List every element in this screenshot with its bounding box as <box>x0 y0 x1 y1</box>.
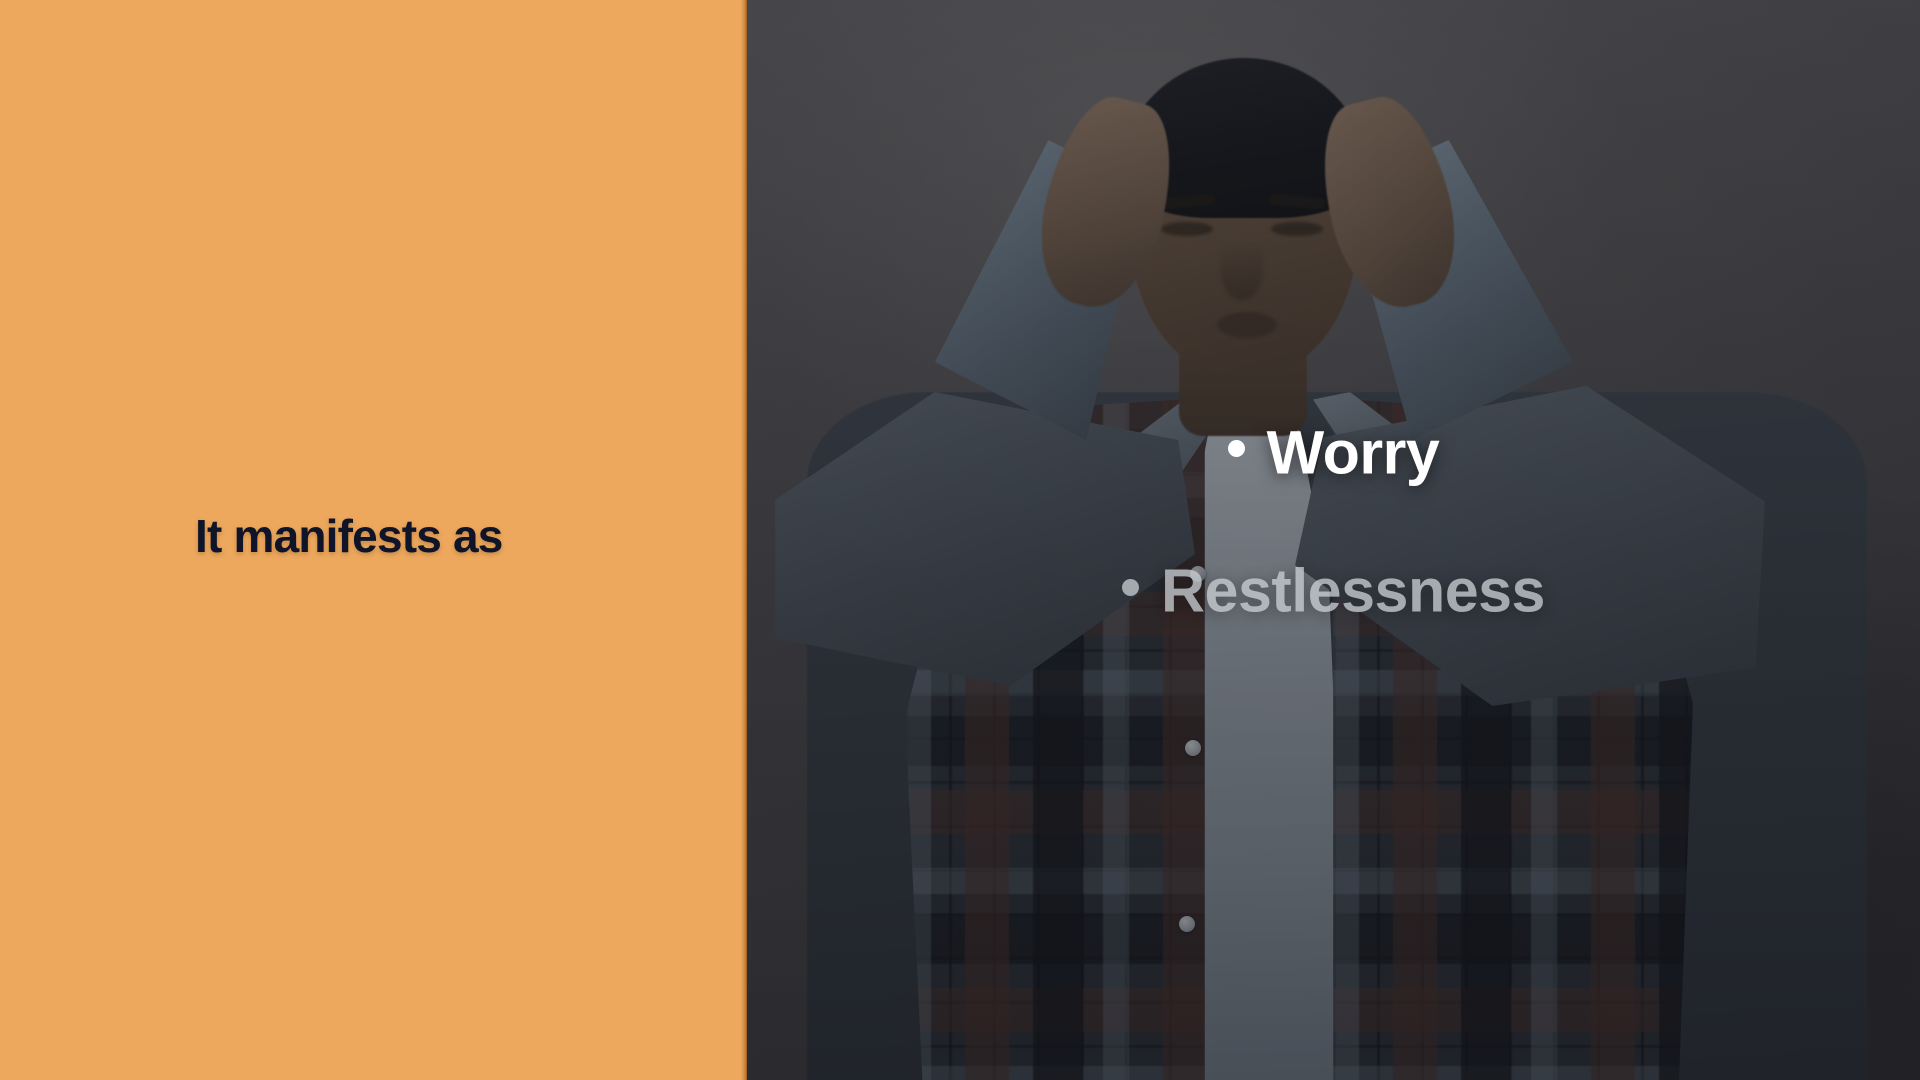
slide-heading: It manifests as <box>195 511 503 562</box>
bullet-label-restlessness: Restlessness <box>1161 557 1545 625</box>
symptom-bullet-list: Worry Restlessness <box>747 418 1920 622</box>
bullet-item-worry: Worry <box>747 418 1920 483</box>
right-media-panel: Worry Restlessness <box>747 0 1920 1080</box>
bullet-dot-icon <box>1228 440 1245 457</box>
bullet-item-restlessness: Restlessness <box>747 556 1920 621</box>
presentation-slide: It manifests as <box>0 0 1920 1080</box>
closed-eye-left <box>1161 222 1213 236</box>
left-title-panel: It manifests as <box>0 0 747 1080</box>
bullet-label-worry: Worry <box>1267 418 1440 486</box>
nose <box>1221 244 1263 300</box>
closed-eye-right <box>1271 222 1323 236</box>
shirt-button <box>1179 916 1195 932</box>
mouth <box>1217 312 1277 338</box>
shirt-button <box>1185 740 1201 756</box>
bullet-dot-icon <box>1122 579 1139 596</box>
